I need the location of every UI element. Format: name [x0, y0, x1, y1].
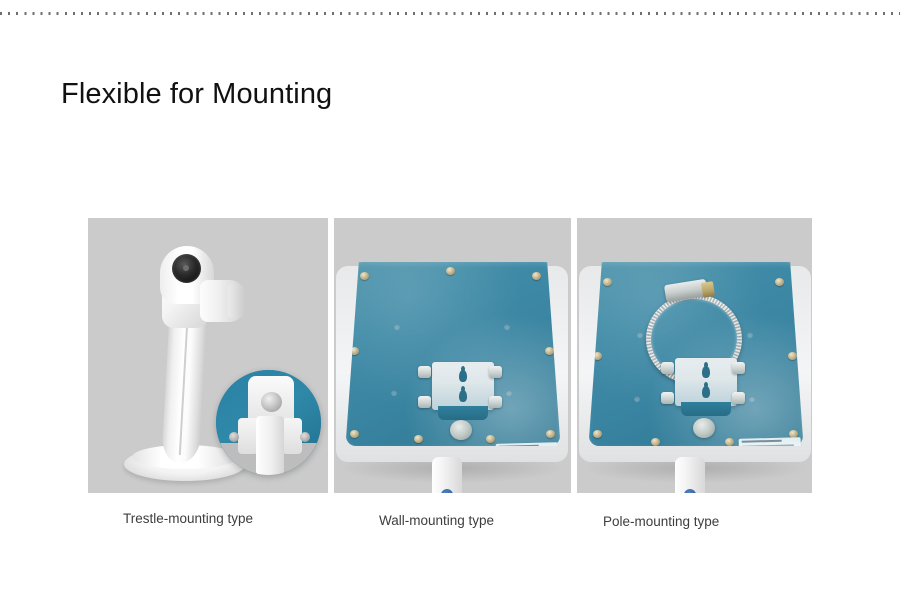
- pole-mount-bracket: [675, 358, 737, 406]
- inset-bolt-right: [300, 432, 310, 442]
- top-dotted-divider: [0, 12, 900, 15]
- antenna-screw: [360, 272, 369, 280]
- mounting-type-gallery: [88, 218, 812, 493]
- antenna-dimple: [506, 390, 512, 396]
- bracket-keyhole-lower: [459, 390, 467, 402]
- antenna-screw: [788, 352, 797, 360]
- caption-wall-mounting: Wall-mounting type: [379, 513, 494, 528]
- bracket-nut: [489, 396, 502, 408]
- antenna-screw: [350, 430, 359, 438]
- bracket-nut: [661, 362, 674, 374]
- bracket-keyhole-lower: [702, 386, 710, 398]
- inset-bracket-wing-left: [238, 418, 258, 454]
- antenna-screw: [725, 438, 734, 446]
- bracket-nut: [732, 392, 745, 404]
- bracket-keyhole-upper: [459, 370, 467, 382]
- page-title: Flexible for Mounting: [61, 78, 332, 111]
- bracket-lower-lip: [438, 406, 488, 420]
- antenna-center-boss: [450, 420, 472, 440]
- wall-mount-bracket: [432, 362, 494, 410]
- antenna-dimple: [634, 396, 640, 402]
- image-panel-wall-mounting[interactable]: [334, 218, 571, 493]
- label-text-line: [742, 440, 782, 443]
- antenna-screw: [545, 347, 554, 355]
- bracket-nut: [661, 392, 674, 404]
- inset-center-screw: [261, 392, 282, 412]
- antenna-screw: [446, 267, 455, 275]
- antenna-screw: [546, 430, 555, 438]
- bracket-nut: [418, 396, 431, 408]
- caption-pole-mounting: Pole-mounting type: [603, 514, 719, 529]
- cable-gland: [432, 457, 462, 493]
- bracket-nut: [418, 366, 431, 378]
- trestle-detail-inset: [216, 370, 321, 475]
- image-panel-pole-mounting[interactable]: [577, 218, 812, 493]
- inset-bracket-stem: [256, 416, 284, 475]
- antenna-dimple: [394, 324, 400, 330]
- antenna-screw: [603, 278, 612, 286]
- trestle-knob-cap: [228, 284, 246, 318]
- antenna-dimple: [637, 332, 643, 338]
- image-panel-trestle-mounting[interactable]: [88, 218, 328, 493]
- antenna-dimple: [747, 332, 753, 338]
- antenna-center-boss: [693, 418, 715, 438]
- antenna-screw: [486, 435, 495, 443]
- antenna-screw: [414, 435, 423, 443]
- antenna-rear-face: [346, 262, 560, 446]
- inset-bolt-left: [229, 432, 239, 442]
- bracket-keyhole-upper: [702, 366, 710, 378]
- cable-gland: [675, 457, 705, 493]
- bracket-lower-lip: [681, 402, 731, 416]
- antenna-dimple: [504, 324, 510, 330]
- antenna-dimple: [749, 396, 755, 402]
- bracket-nut: [489, 366, 502, 378]
- antenna-rear-face: [589, 262, 803, 446]
- bracket-nut: [732, 362, 745, 374]
- antenna-dimple: [391, 390, 397, 396]
- inset-bracket-wing-right: [282, 418, 302, 454]
- antenna-screw: [651, 438, 660, 446]
- antenna-screw: [775, 278, 784, 286]
- camera-lens-icon: [172, 254, 201, 283]
- caption-trestle-mounting: Trestle-mounting type: [123, 511, 253, 526]
- clamp-screw-head: [701, 281, 715, 298]
- antenna-screw: [532, 272, 541, 280]
- antenna-screw: [593, 430, 602, 438]
